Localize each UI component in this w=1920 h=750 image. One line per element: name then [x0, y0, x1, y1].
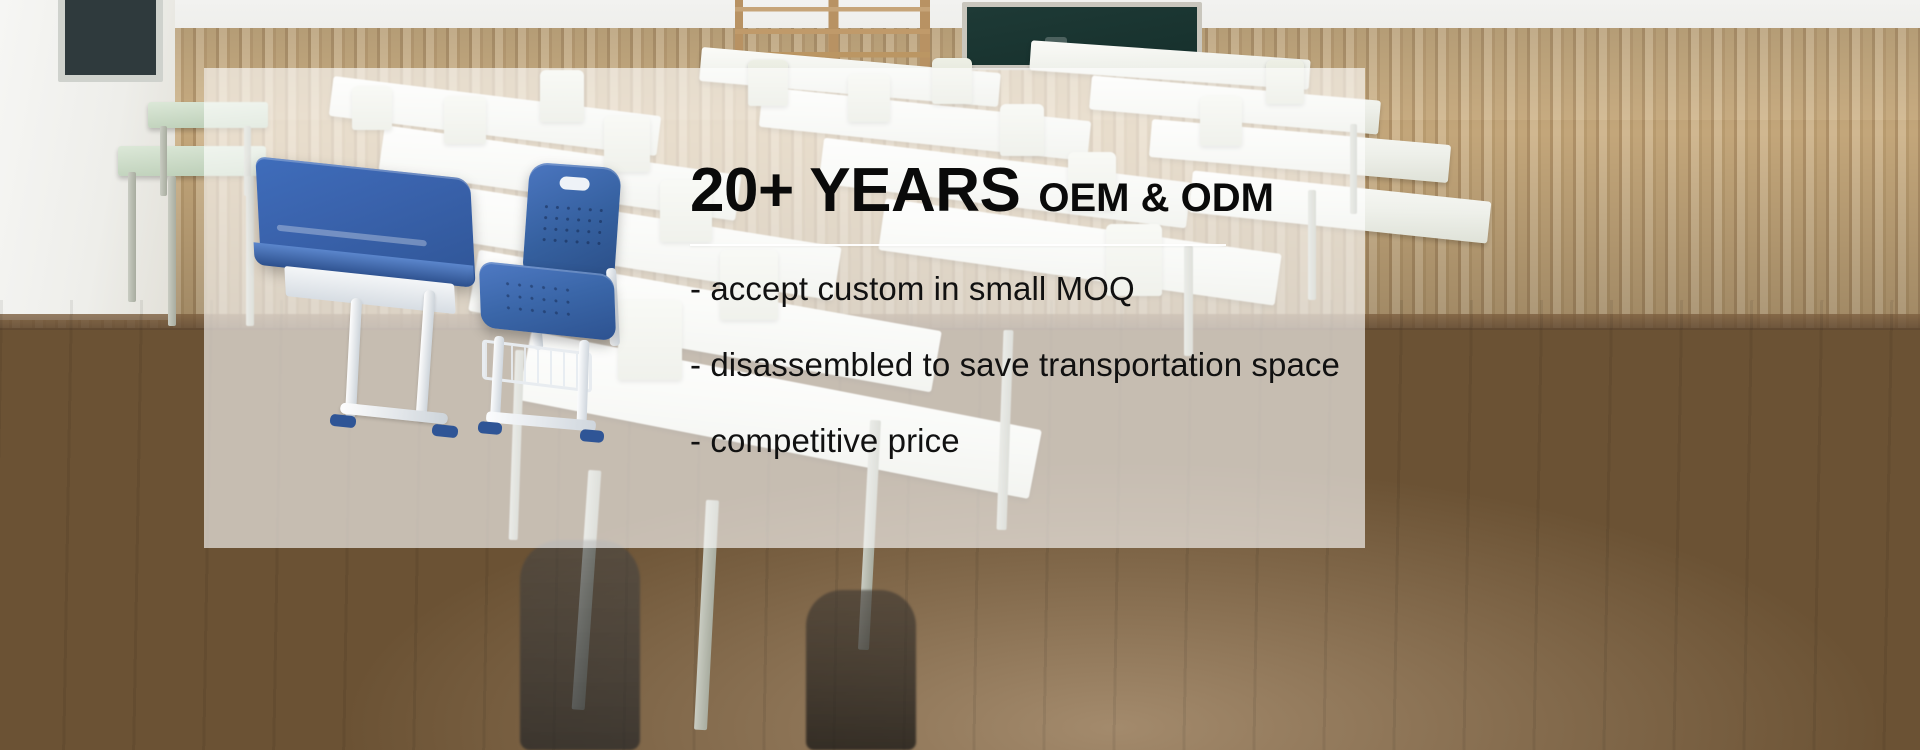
desk-foot	[329, 414, 356, 429]
foreground-chair-silhouette	[520, 540, 640, 750]
blue-chair-back	[522, 162, 622, 280]
promo-banner: 20+ YEARS OEM & ODM - accept custom in s…	[0, 0, 1920, 750]
blue-chair-seat	[479, 261, 616, 342]
chair-foot	[478, 421, 503, 435]
bullet-item: - competitive price	[690, 424, 1290, 457]
headline-primary: 20+ YEARS	[690, 160, 1020, 222]
headline-secondary: OEM & ODM	[1038, 178, 1274, 218]
chair-foot	[580, 429, 605, 443]
desk-leg	[168, 176, 176, 326]
marketing-text-block: 20+ YEARS OEM & ODM - accept custom in s…	[690, 160, 1290, 457]
headline-divider	[690, 244, 1226, 246]
desk-leg	[160, 126, 167, 196]
bullet-item: - disassembled to save transportation sp…	[690, 348, 1290, 381]
window-frame	[58, 0, 163, 82]
headline: 20+ YEARS OEM & ODM	[690, 160, 1290, 222]
chair-leg	[577, 340, 590, 426]
foreground-chair-silhouette	[806, 590, 916, 750]
desk-leg	[128, 172, 136, 302]
desk-foot	[431, 424, 458, 439]
desk-leg	[345, 298, 362, 418]
feature-bullet-list: - accept custom in small MOQ - disassemb…	[690, 272, 1290, 457]
bullet-item: - accept custom in small MOQ	[690, 272, 1290, 305]
product-image-desk-and-chair	[230, 150, 700, 480]
